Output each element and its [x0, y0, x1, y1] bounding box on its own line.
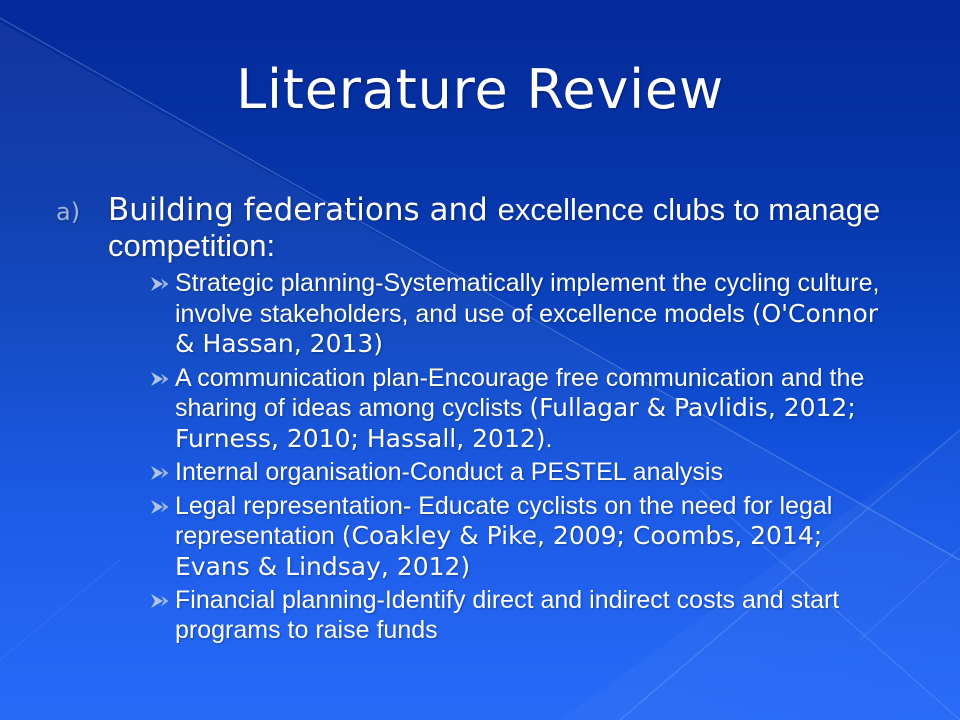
bullet-text-segment: Internal organisation-Conduct a PESTEL a… [175, 458, 723, 486]
list-item: a) Building federations and excellence c… [0, 192, 960, 263]
list-item: Legal representation- Educate cyclists o… [0, 492, 960, 583]
list-item: Strategic planning-Systematically implem… [0, 269, 960, 360]
chevron-bullet-icon [150, 592, 170, 610]
heading-segment: Building federations and [108, 192, 498, 228]
bullet-text-segment: . [546, 425, 553, 453]
list-item: A communication plan-Encourage free comm… [0, 364, 960, 455]
chevron-bullet-icon [150, 275, 170, 293]
list-item: Financial planning-Identify direct and i… [0, 586, 960, 645]
slide-body: a) Building federations and excellence c… [0, 192, 960, 649]
bullet-text-segment: Financial planning-Identify direct and i… [175, 586, 839, 644]
list-marker-a: a) [56, 200, 80, 224]
presentation-slide: Literature Review a) Building federation… [0, 0, 960, 720]
list-item: Internal organisation-Conduct a PESTEL a… [0, 458, 960, 488]
slide-title: Literature Review [0, 62, 960, 119]
chevron-bullet-icon [150, 498, 170, 516]
sub-bullet-list: Strategic planning-Systematically implem… [0, 269, 960, 645]
chevron-bullet-icon [150, 370, 170, 388]
chevron-bullet-icon [150, 464, 170, 482]
level1-heading: Building federations and excellence club… [108, 192, 902, 263]
